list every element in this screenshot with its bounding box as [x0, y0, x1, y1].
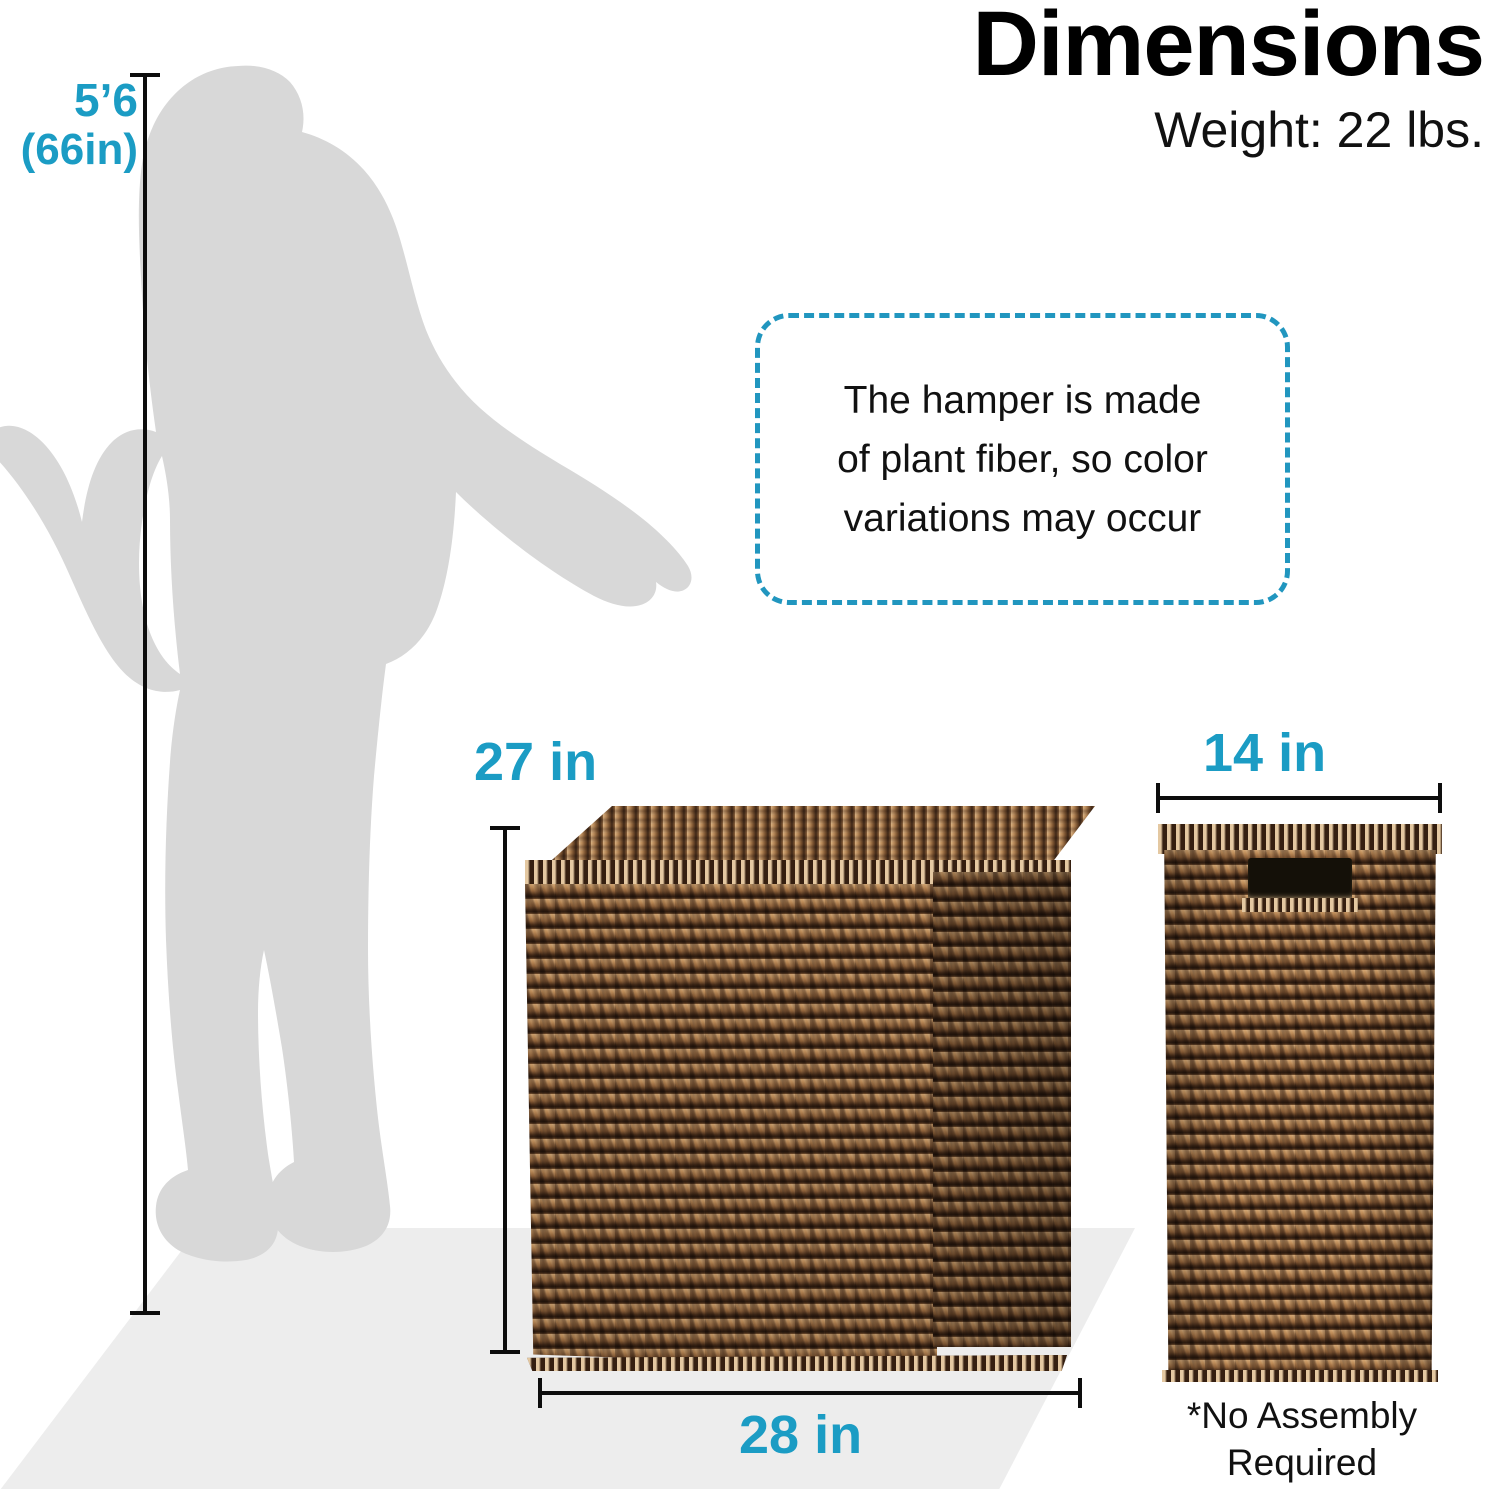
basket-handle-cutout: [1248, 858, 1352, 902]
weight-label: Weight: 22 lbs.: [973, 101, 1484, 159]
height-feet-label: 5’6: [6, 76, 138, 126]
basket-body-shading: [1160, 850, 1440, 1378]
hamper-product-image: [519, 806, 1095, 1381]
callout-line-1: The hamper is made: [844, 381, 1202, 420]
page-title: Dimensions: [973, 0, 1484, 93]
hamper-front-panel: [525, 884, 937, 1369]
basket-width-dimension-line: [1156, 796, 1442, 800]
basket-body-panel: [1160, 850, 1440, 1378]
height-inches-label: (66in): [6, 126, 138, 174]
title-block: Dimensions Weight: 22 lbs.: [973, 0, 1484, 159]
hamper-height-dimension-line: [503, 826, 507, 1354]
hamper-width-dimension-line: [538, 1391, 1082, 1395]
hamper-width-label: 28 in: [739, 1404, 862, 1466]
basket-handle-lip-band: [1242, 898, 1358, 912]
callout-line-2: of plant fiber, so color: [837, 440, 1208, 479]
dimensions-infographic: Dimensions Weight: 22 lbs. 5’6 (66in) Th…: [0, 0, 1500, 1489]
hamper-base-rim-band: [527, 1355, 1067, 1371]
assembly-note: *No Assembly Required: [1128, 1392, 1476, 1487]
basket-width-label: 14 in: [1203, 722, 1326, 784]
height-dimension-line: [143, 73, 147, 1315]
assembly-note-line-2: Required: [1128, 1439, 1476, 1486]
basket-top-rim-band: [1158, 824, 1442, 854]
hamper-height-label: 27 in: [474, 731, 597, 793]
height-label-group: 5’6 (66in): [6, 76, 138, 173]
hamper-side-panel: [933, 872, 1071, 1347]
material-callout-box: The hamper is made of plant fiber, so co…: [755, 313, 1290, 605]
basket-base-rim-band: [1162, 1370, 1438, 1382]
hamper-side-shading: [933, 872, 1071, 1347]
basket-product-image: [1156, 824, 1444, 1380]
hamper-front-shading: [525, 884, 937, 1369]
assembly-note-line-1: *No Assembly: [1128, 1392, 1476, 1439]
callout-line-3: variations may occur: [844, 499, 1202, 538]
hamper-lid-top-surface: [543, 806, 1095, 868]
